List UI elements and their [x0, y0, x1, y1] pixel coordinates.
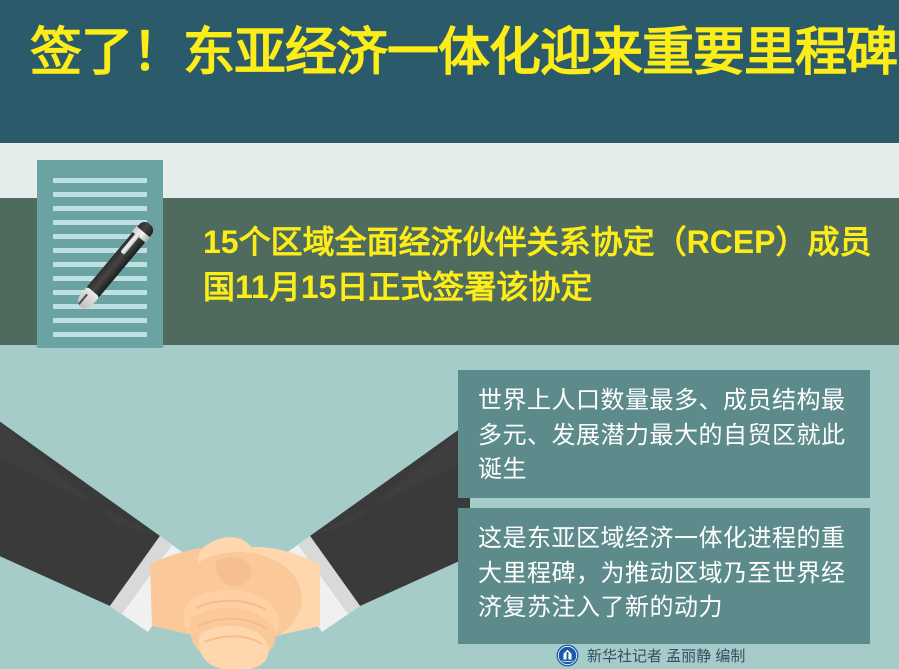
callout-box-population: 世界上人口数量最多、成员结构最多元、发展潜力最大的自贸区就此诞生: [458, 370, 870, 498]
page-title: 签了！东亚经济一体化迎来重要里程碑: [30, 26, 880, 81]
credit-line: 新华社记者 孟丽静 编制: [556, 643, 745, 667]
infographic-page: 签了！东亚经济一体化迎来重要里程碑 15个区域全面经济伙伴关系协定（RCEP）成…: [0, 0, 899, 669]
document-line: [53, 318, 147, 323]
document-line: [53, 304, 147, 309]
handshake-icon: [0, 396, 470, 669]
credit-text: 新华社记者 孟丽静 编制: [587, 645, 745, 666]
signed-document-icon: [37, 160, 163, 348]
header-banner: 签了！东亚经济一体化迎来重要里程碑: [0, 0, 899, 143]
document-line: [53, 220, 147, 225]
document-line: [53, 332, 147, 337]
statement-text: 15个区域全面经济伙伴关系协定（RCEP）成员国11月15日正式签署该协定: [203, 220, 893, 311]
callout-box-milestone: 这是东亚区域经济一体化进程的重大里程碑，为推动区域乃至世界经济复苏注入了新的动力: [458, 508, 870, 644]
document-line: [53, 192, 147, 197]
xinhua-logo-icon: [556, 644, 579, 667]
document-line: [53, 178, 147, 183]
document-line: [53, 206, 147, 211]
